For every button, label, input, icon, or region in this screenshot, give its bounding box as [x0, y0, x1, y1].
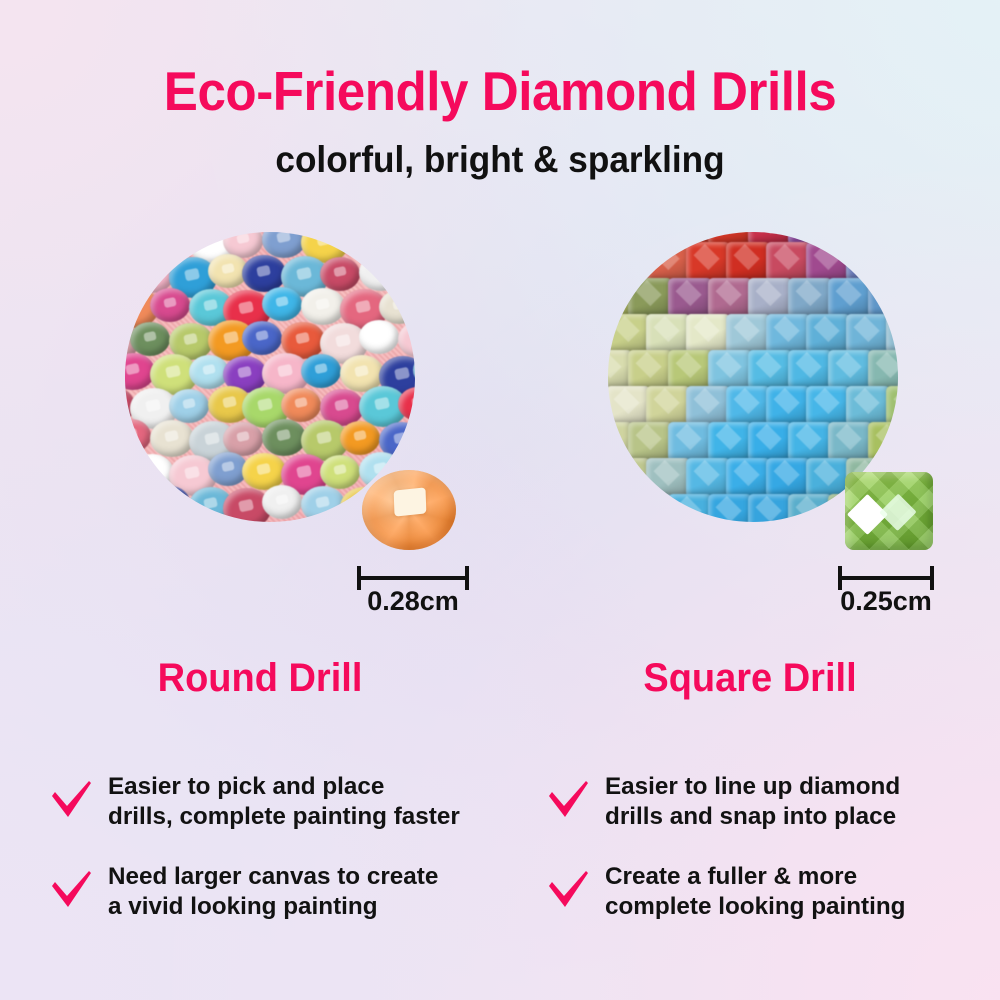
- square-drill-heading: Square Drill: [513, 658, 988, 698]
- list-item-label: Create a fuller & more complete looking …: [605, 862, 906, 922]
- list-item: Easier to line up diamond drills and sna…: [545, 772, 1000, 832]
- square-measure-bar: [838, 566, 934, 588]
- round-measure-label: 0.28cm: [357, 586, 469, 617]
- round-drill-heading: Round Drill: [13, 658, 507, 698]
- list-item-label: Need larger canvas to create a vivid loo…: [108, 862, 438, 922]
- round-measure-bar: [357, 566, 469, 588]
- check-icon: [48, 866, 94, 912]
- square-drill-sample-icon: [845, 472, 933, 550]
- list-item-label: Easier to line up diamond drills and sna…: [605, 772, 900, 832]
- check-icon: [545, 866, 591, 912]
- check-icon: [545, 776, 591, 822]
- round-drill-sample-icon: [362, 470, 456, 550]
- list-item: Create a fuller & more complete looking …: [545, 862, 1000, 922]
- list-item: Easier to pick and place drills, complet…: [48, 772, 518, 832]
- measure-line: [838, 576, 934, 580]
- square-measure-label: 0.25cm: [838, 586, 934, 617]
- list-item-label: Easier to pick and place drills, complet…: [108, 772, 460, 832]
- round-drill-highlight: [394, 487, 427, 516]
- measure-line: [357, 576, 469, 580]
- list-item: Need larger canvas to create a vivid loo…: [48, 862, 518, 922]
- page-subtitle: colorful, bright & sparkling: [25, 141, 975, 178]
- round-drill-photo: [125, 232, 415, 522]
- infographic-page: Eco-Friendly Diamond Drills colorful, br…: [0, 0, 1000, 1000]
- check-icon: [48, 776, 94, 822]
- page-title: Eco-Friendly Diamond Drills: [35, 64, 965, 119]
